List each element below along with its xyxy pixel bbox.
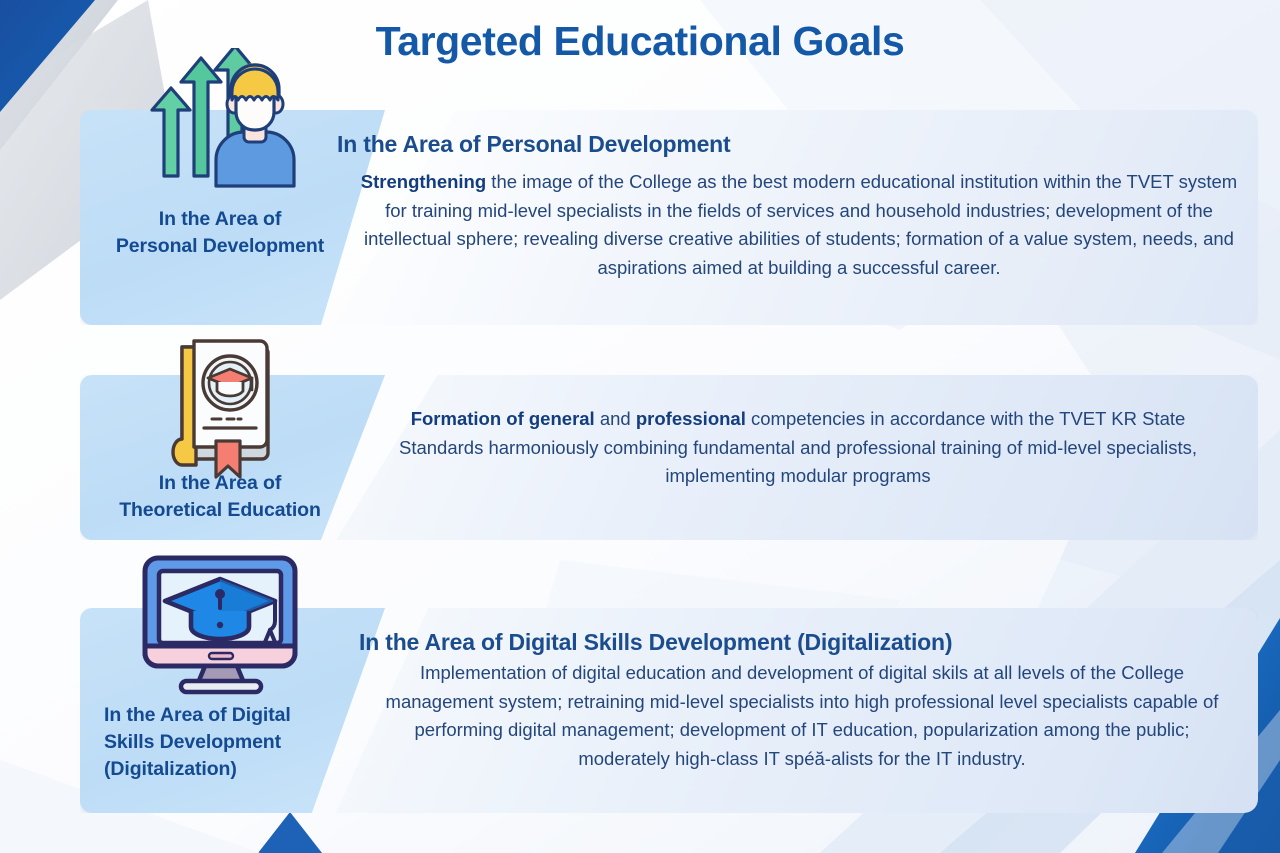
section-1-label-line1: In the Area of: [159, 208, 281, 230]
section-1-body-lead: Strengthening: [361, 171, 486, 192]
slide-canvas: Targeted Educational Goals: [0, 0, 1280, 853]
section-2-label: In the Area of Theoretical Education: [80, 470, 360, 524]
monitor-graduation-cap-icon: [135, 552, 310, 702]
section-1-heading: In the Area of Personal Development: [337, 131, 730, 158]
section-3-body-rest: Implementation of digital education and …: [386, 662, 1219, 769]
section-1-label: In the Area of Personal Development: [80, 206, 360, 260]
section-1-body-rest: the image of the College as the best mod…: [364, 171, 1237, 278]
section-2-body-mid: and: [595, 408, 636, 429]
section-2-body-lead2: professional: [636, 408, 746, 429]
section-2-body: Formation of general and professional co…: [368, 405, 1228, 491]
section-1-label-line2: Personal Development: [116, 235, 324, 257]
book-graduation-cap-icon: [160, 333, 285, 486]
person-growth-arrows-icon: [140, 48, 310, 193]
section-3-heading: In the Area of Digital Skills Developmen…: [359, 629, 952, 656]
section-2-label-line2: Theoretical Education: [119, 499, 321, 521]
section-2-body-lead: Formation of general: [411, 408, 595, 429]
section-3-label-line1: In the Area of Digital: [104, 704, 291, 726]
section-1-body: Strengthening the image of the College a…: [360, 168, 1238, 282]
section-3-label: In the Area of Digital Skills Developmen…: [104, 702, 384, 783]
section-3-body: Implementation of digital education and …: [372, 659, 1232, 773]
section-3-label-line3: (Digitalization): [104, 758, 237, 780]
section-3-label-line2: Skills Development: [104, 731, 281, 753]
section-2-label-line1: In the Area of: [159, 472, 281, 494]
